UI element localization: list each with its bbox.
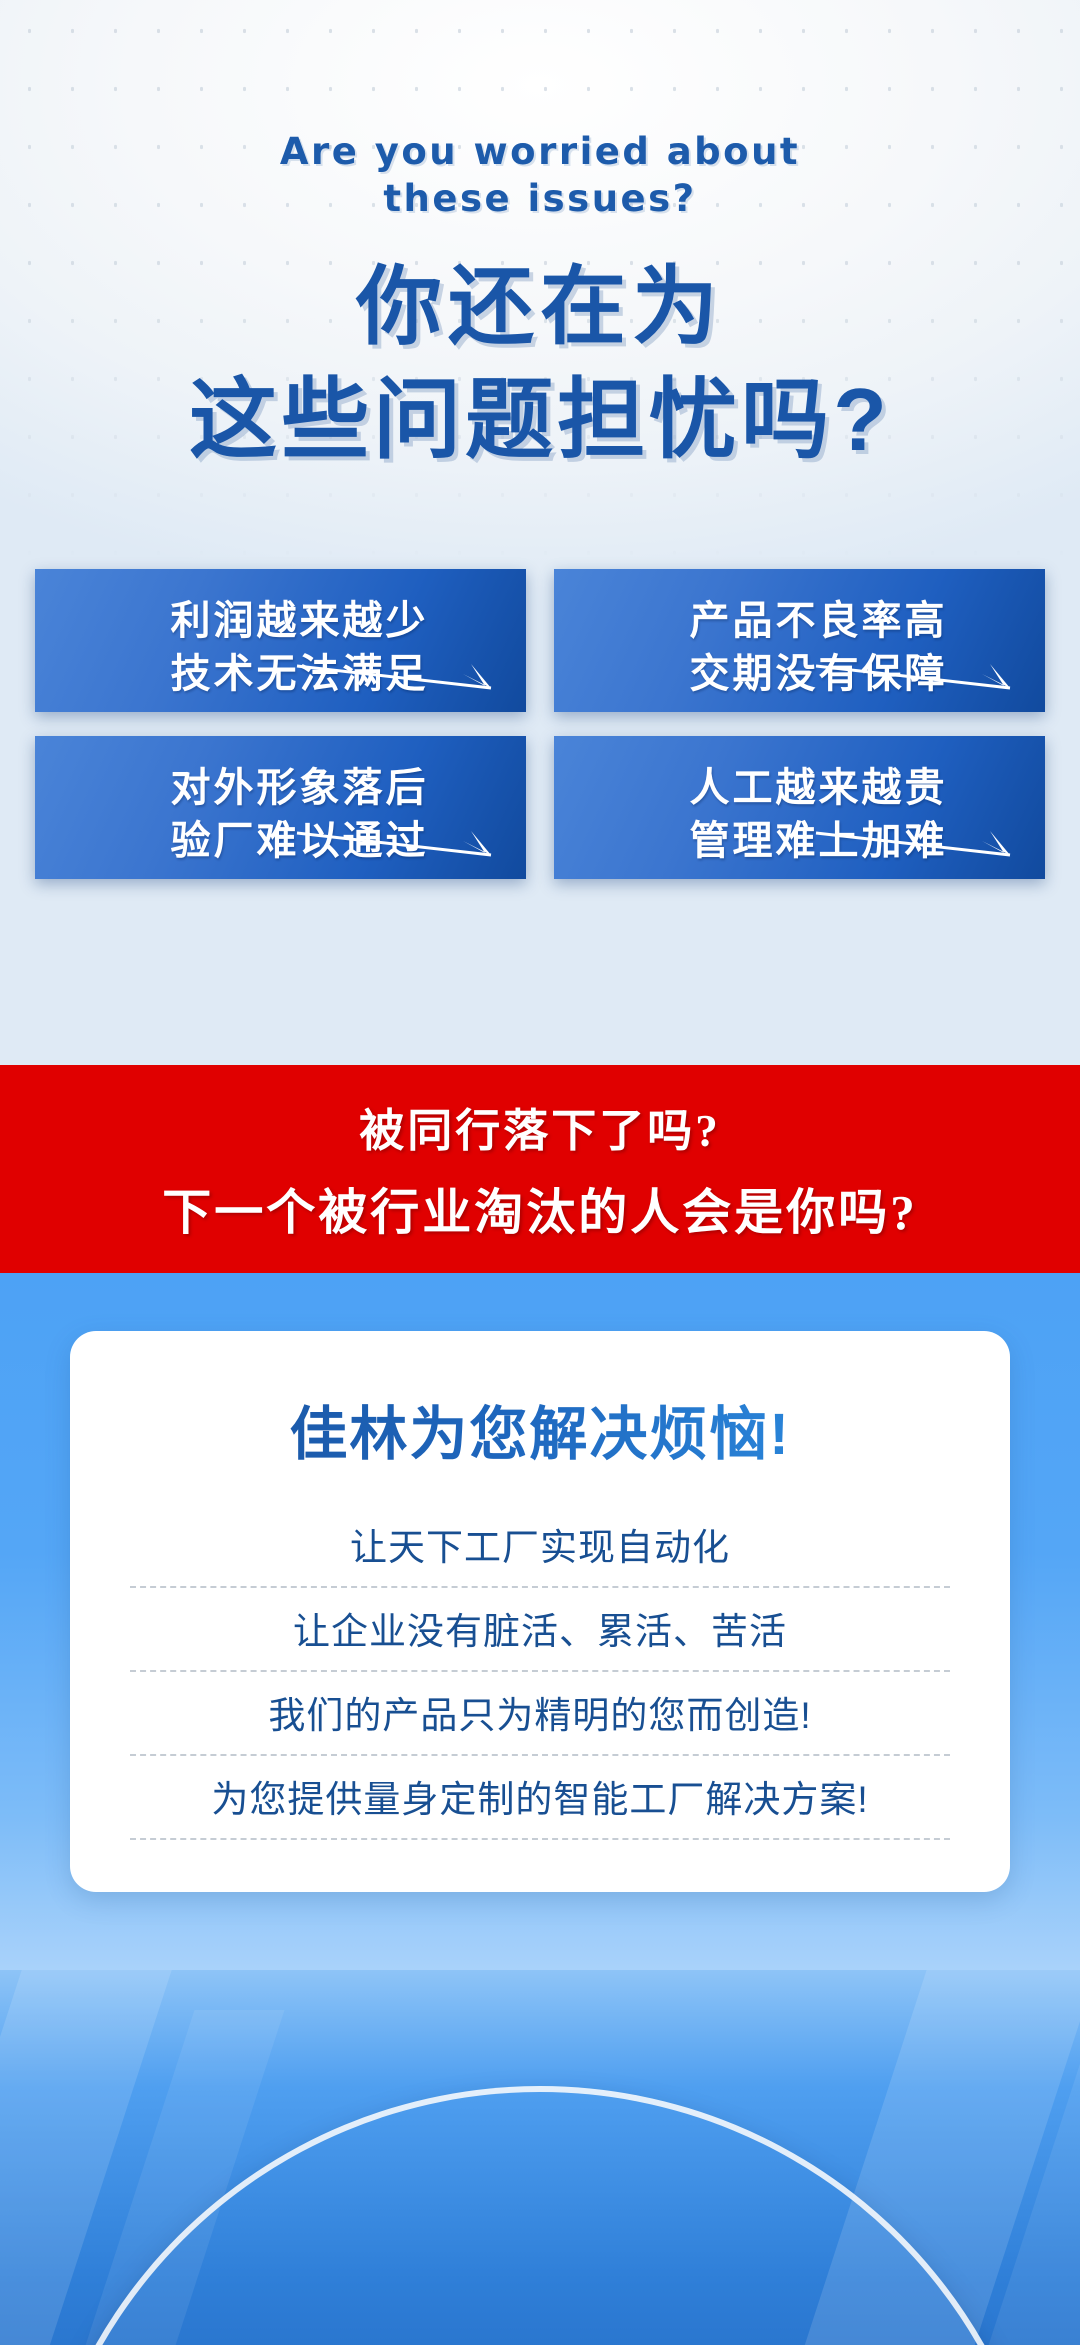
solution-point-list: 让天下工厂实现自动化 让企业没有脏活、累活、苦活 我们的产品只为精明的您而创造!…	[130, 1515, 950, 1840]
solution-point: 让企业没有脏活、累活、苦活	[130, 1588, 950, 1672]
solution-card: 佳林为您解决烦恼! 让天下工厂实现自动化 让企业没有脏活、累活、苦活 我们的产品…	[70, 1331, 1010, 1892]
red-warning-banner: 被同行落下了吗? 下一个被行业淘汰的人会是你吗?	[0, 1065, 1080, 1273]
problem-card-line-1: 利润越来越少	[73, 595, 526, 648]
wheel-label-layer: 中央厨房 智造系统 物流仓储 智造系统 非织造布 包装系统 食品行业 包装系统 …	[35, 2092, 1045, 2345]
red-banner-line-2: 下一个被行业淘汰的人会是你吗?	[162, 1173, 918, 1244]
solution-point: 让天下工厂实现自动化	[130, 1515, 950, 1588]
page-root: Are you worried about these issues? 你还在为…	[0, 0, 1080, 2345]
problem-card-line-1: 产品不良率高	[592, 595, 1045, 648]
hero-english-line-1: Are you worried about	[0, 128, 1080, 175]
problem-card[interactable]: 利润越来越少 技术无法满足	[35, 569, 526, 712]
problem-card[interactable]: 产品不良率高 交期没有保障	[554, 569, 1045, 712]
problem-card-line-2: 技术无法满足	[73, 648, 526, 701]
problem-card-line-2: 交期没有保障	[592, 648, 1045, 701]
problem-card[interactable]: 人工越来越贵 管理难上加难	[554, 736, 1045, 879]
solution-heading: 佳林为您解决烦恼!	[130, 1387, 950, 1471]
problem-card[interactable]: 对外形象落后 验厂难以通过	[35, 736, 526, 879]
problem-card-line-1: 对外形象落后	[73, 762, 526, 815]
solution-point: 为您提供量身定制的智能工厂解决方案!	[130, 1756, 950, 1840]
solution-point: 我们的产品只为精明的您而创造!	[130, 1672, 950, 1756]
solution-section: 佳林为您解决烦恼! 让天下工厂实现自动化 让企业没有脏活、累活、苦活 我们的产品…	[0, 1273, 1080, 1970]
problem-card-line-1: 人工越来越贵	[592, 762, 1045, 815]
capability-wheel-section: 中央厨房 智造系统 物流仓储 智造系统 非织造布 包装系统 食品行业 包装系统 …	[0, 1970, 1080, 2345]
red-banner-line-1: 被同行落下了吗?	[359, 1094, 721, 1159]
hero-section: Are you worried about these issues? 你还在为…	[0, 0, 1080, 1065]
problem-card-grid: 利润越来越少 技术无法满足 产品不良率高 交期没有保障 对外形象落后 验厂难以通…	[35, 569, 1045, 879]
problem-card-line-2: 管理难上加难	[592, 815, 1045, 868]
hero-english-title: Are you worried about these issues?	[0, 0, 1080, 223]
hero-chinese-line-2: 这些问题担忧吗?	[0, 366, 1080, 473]
hero-english-line-2: these issues?	[0, 175, 1080, 222]
hero-chinese-title: 你还在为 这些问题担忧吗?	[0, 255, 1080, 473]
problem-card-line-2: 验厂难以通过	[73, 815, 526, 868]
hero-chinese-line-1: 你还在为	[356, 259, 724, 355]
